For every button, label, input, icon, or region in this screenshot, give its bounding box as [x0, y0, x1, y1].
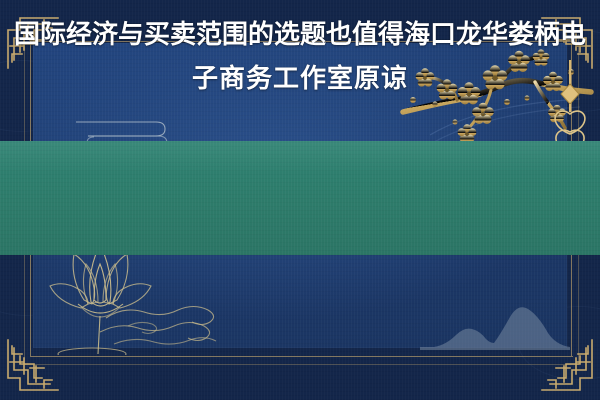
frame-line-bottom-inner [24, 364, 579, 365]
caption-line-1: 国际经济与买卖范围的选题也值得海口龙华娄柄电 [14, 13, 586, 57]
caption-band [0, 141, 600, 255]
caption-text: 国际经济与买卖范围的选题也值得海口龙华娄柄电 子商务工作室原谅 [0, 0, 600, 114]
poster-canvas: 国际经济与买卖范围的选题也值得海口龙华娄柄电 子商务工作室原谅 [0, 0, 600, 400]
frame-line-bottom [30, 356, 573, 357]
caption-line-2: 子商务工作室原谅 [192, 57, 408, 101]
